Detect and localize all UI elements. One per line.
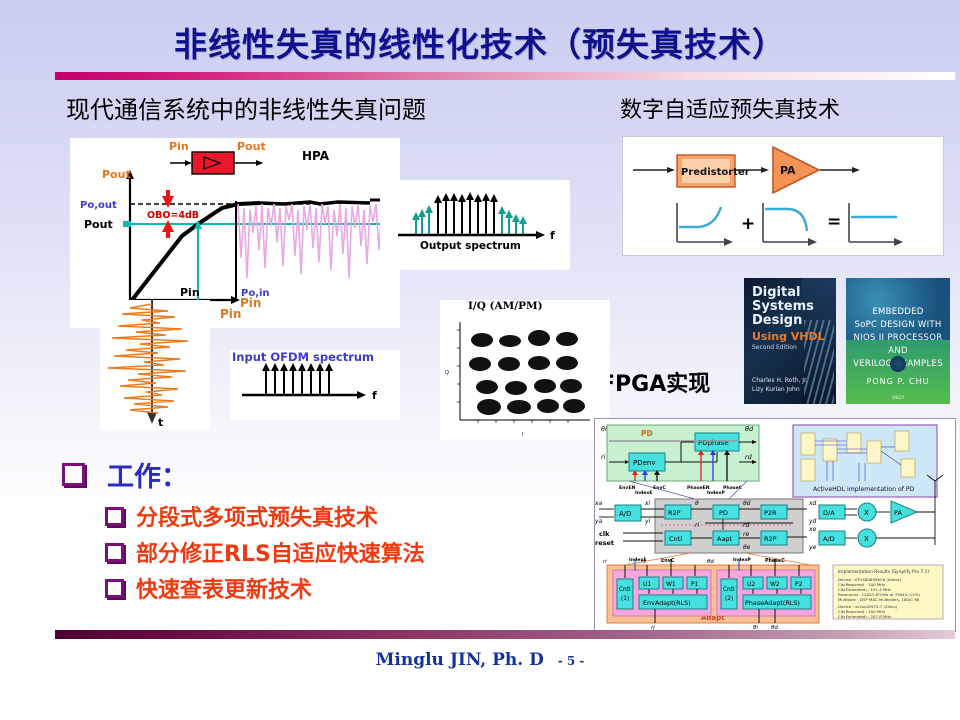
results-title: Implementation Results (Synplify Pro 7.1… [838, 569, 929, 575]
svg-text:Pout: Pout [102, 168, 131, 181]
svg-text:xd: xd [808, 500, 817, 507]
svg-text:OBO=4dB: OBO=4dB [147, 210, 199, 221]
svg-text:Pout: Pout [84, 218, 113, 231]
svg-text:yd: yd [808, 518, 817, 525]
bullet-square-icon [105, 543, 124, 562]
figure-predistorter-pa: Predistorter PA + = [622, 136, 944, 256]
book1-title: Digital Systems Design [752, 286, 814, 328]
plus-sign: + [741, 214, 755, 234]
svg-text:Aapt: Aapt [717, 535, 733, 543]
output-spectrum-caption: Output spectrum [420, 240, 521, 252]
svg-text:Pin: Pin [169, 140, 189, 153]
bullet-square-icon [105, 507, 124, 526]
heading-right: 数字自适应预失真技术 [620, 92, 840, 124]
svg-text:X: X [864, 509, 869, 517]
svg-text:PD: PD [719, 509, 728, 517]
svg-text:(1): (1) [621, 596, 629, 602]
input-signal-label: Pin [240, 296, 261, 310]
svg-text:xa: xa [595, 500, 603, 507]
figure-constellation: I/Q (AM/PM) Q I [440, 300, 610, 440]
svg-text:Po,out: Po,out [80, 200, 117, 211]
svg-text:EnvAdapt(RLS): EnvAdapt(RLS) [643, 599, 691, 607]
svg-text:R2P: R2P [668, 509, 681, 517]
svg-text:W2: W2 [770, 581, 780, 588]
bullet-square-icon [105, 579, 124, 598]
list-item: 分段式多项式预失真技术 [105, 500, 425, 532]
svg-text:f: f [372, 389, 377, 402]
svg-text:rd: rd [745, 453, 753, 461]
svg-text:t: t [158, 416, 163, 429]
svg-text:R2P: R2P [764, 535, 777, 543]
book-cover-embedded-sopc: EMBEDDED SoPC DESIGN WITH NIOS II PROCES… [846, 278, 950, 404]
book-cover-digital-systems-design: Digital Systems Design Using VHDL Second… [744, 278, 836, 404]
constellation-caption: I/Q (AM/PM) [468, 300, 543, 312]
svg-text:PA: PA [780, 164, 796, 177]
svg-text:reset: reset [595, 539, 614, 547]
figure-output-spectrum: f Output spectrum [380, 180, 570, 270]
svg-text:P2: P2 [795, 581, 803, 588]
bullet-main: 工作： [62, 455, 188, 494]
svg-text:θe: θe [743, 544, 751, 551]
svg-text:θd: θd [743, 500, 751, 507]
footer: Minglu JIN, Ph. D - 5 - [0, 650, 960, 670]
slide-root: 非线性失真的线性化技术（预失真技术） 现代通信系统中的非线性失真问题 数字自适应… [0, 0, 960, 720]
svg-text:U1: U1 [643, 581, 651, 588]
svg-text:PhaseC: PhaseC [765, 558, 785, 564]
pd-group-label: PD [641, 429, 653, 438]
svg-text:U2: U2 [747, 581, 755, 588]
svg-text:θd: θd [707, 559, 714, 565]
ofdm-tones [262, 363, 333, 395]
book1-subtitle: Using VHDL [752, 330, 825, 343]
hpa-block-symbol [170, 152, 263, 174]
svg-text:EnvEN: EnvEN [619, 485, 636, 491]
bullet-item-label: 快速查表更新技术 [136, 572, 312, 604]
svg-text:ya: ya [595, 518, 603, 525]
bullet-item-label: 分段式多项式预失真技术 [136, 500, 378, 532]
svg-text:D/A: D/A [823, 509, 835, 517]
list-item: 部分修正RLS自适应快速算法 [105, 536, 425, 568]
svg-text:Pin: Pin [180, 286, 200, 299]
svg-text:rd: rd [743, 522, 749, 529]
svg-text:I: I [522, 432, 523, 438]
svg-text:ri: ri [603, 559, 607, 565]
svg-text:Cntl: Cntl [619, 587, 631, 593]
svg-text:A/D: A/D [823, 535, 835, 543]
svg-text:re: re [743, 531, 749, 538]
figure-input-ofdm-time: t [100, 300, 210, 430]
svg-text:EnvC: EnvC [661, 558, 675, 564]
svg-text:IndexE: IndexE [635, 490, 653, 496]
bullet-main-label: 工作： [107, 455, 188, 494]
svg-text:ye: ye [808, 544, 817, 551]
predistorter-label: Predistorter [681, 167, 750, 178]
svg-text:X: X [864, 535, 869, 543]
heading-fpga: FPGA实现 [600, 366, 710, 398]
title-divider [55, 72, 955, 80]
svg-text:HPA: HPA [302, 149, 330, 163]
svg-text:θi: θi [601, 425, 607, 433]
svg-text:Pin: Pin [220, 307, 241, 321]
svg-text:PDphase: PDphase [698, 439, 729, 447]
svg-text:ri: ri [601, 453, 606, 461]
svg-text:θd: θd [745, 425, 754, 433]
svg-text:P2R: P2R [764, 509, 777, 517]
spectrum-lines-black [434, 192, 498, 235]
bullet-item-label: 部分修正RLS自适应快速算法 [136, 536, 425, 568]
input-spectrum-caption: Input OFDM spectrum [232, 350, 374, 364]
page-title: 非线性失真的线性化技术（预失真技术） [0, 18, 960, 66]
svg-text:PhaseAdapt(RLS): PhaseAdapt(RLS) [745, 599, 800, 607]
svg-text:P1: P1 [691, 581, 699, 588]
figure-fpga-architecture: PD PDenv PDphase θi ri θd rd [594, 418, 956, 632]
heading-left: 现代通信系统中的非线性失真问题 [66, 90, 426, 125]
svg-text:clk: clk [599, 530, 610, 538]
svg-text:f: f [550, 229, 555, 242]
svg-text:IndexP: IndexP [733, 557, 751, 563]
svg-text:xe: xe [808, 526, 817, 533]
svg-text:ri: ri [695, 522, 699, 529]
book2-publisher: WILEY [846, 395, 950, 400]
svg-text:Pout: Pout [237, 140, 266, 153]
svg-text:θ: θ [695, 500, 699, 507]
equals-sign: = [827, 212, 841, 232]
bullet-sublist: 分段式多项式预失真技术 部分修正RLS自适应快速算法 快速查表更新技术 [105, 500, 425, 604]
svg-text:W1: W1 [666, 581, 676, 588]
book1-edition: Second Edition [752, 344, 797, 351]
activehdl-caption: ActiveHDL implementation of PD [813, 486, 915, 493]
footer-divider [55, 630, 955, 639]
svg-text:yi: yi [644, 518, 651, 525]
svg-text:(2): (2) [725, 596, 733, 602]
book1-authors: Charles H. Roth, Jr. Lizy Kurian John [752, 376, 808, 394]
footer-author: Minglu JIN, Ph. D [376, 650, 544, 670]
bullet-square-icon [62, 463, 85, 486]
svg-text:Q: Q [445, 370, 449, 376]
svg-text:Clk(Estimated) : 207.8 MHz: Clk(Estimated) : 207.8 MHz [838, 614, 891, 619]
svg-text:Cntl: Cntl [669, 535, 682, 543]
svg-text:Multiplier : DSP MAC Mult: Multiplier : DSP MAC Multipliers, 180/C … [838, 597, 920, 602]
svg-text:Cntl: Cntl [723, 587, 735, 593]
page-number: - 5 - [558, 654, 585, 668]
svg-text:xi: xi [644, 500, 651, 507]
list-item: 快速查表更新技术 [105, 572, 425, 604]
book2-author: PONG P. CHU [846, 377, 950, 386]
svg-text:PDenv: PDenv [633, 459, 656, 467]
svg-text:A/D: A/D [619, 510, 632, 518]
svg-text:PA: PA [894, 509, 903, 517]
